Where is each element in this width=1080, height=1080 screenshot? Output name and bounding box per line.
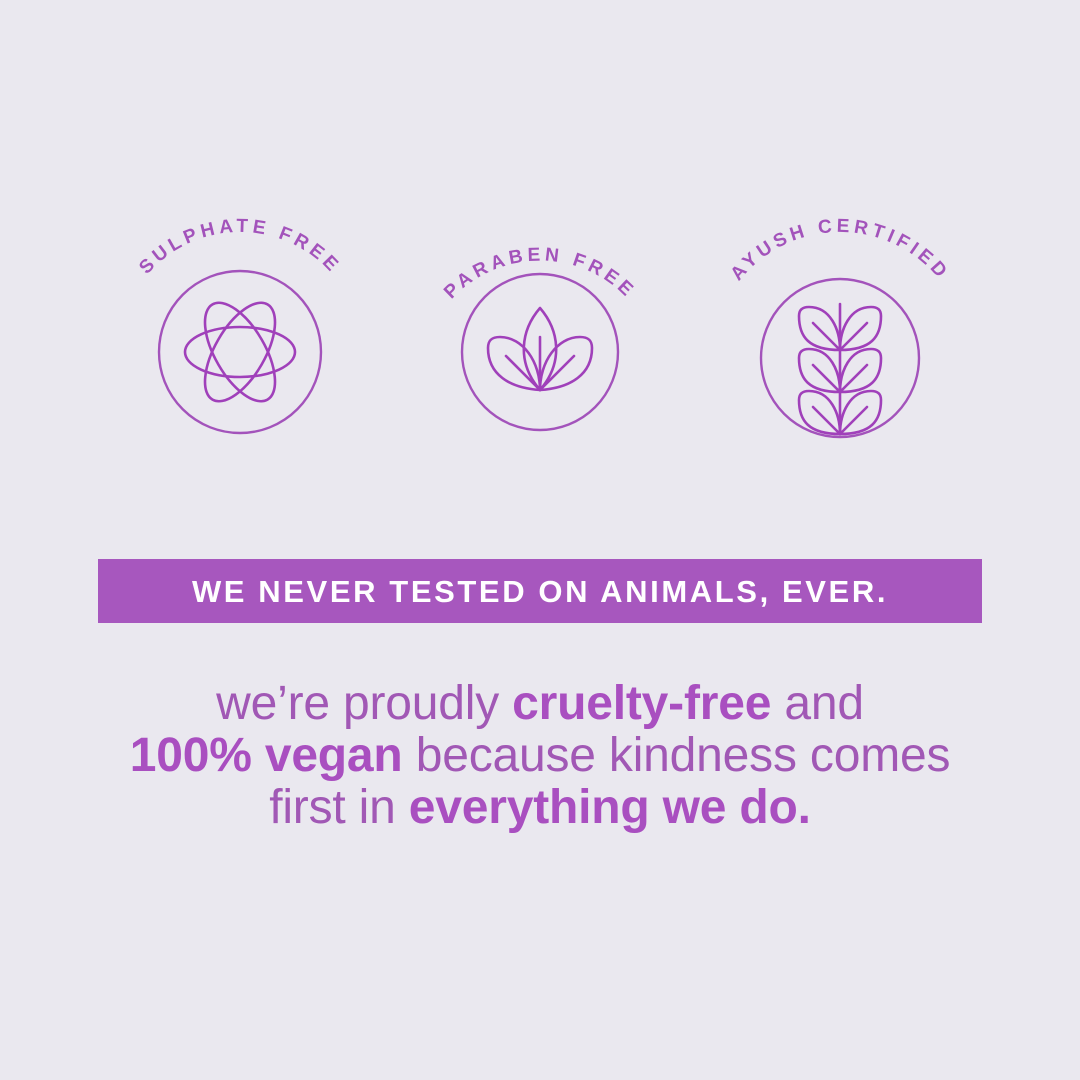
tagline-line1-regular-a: we’re proudly (216, 677, 512, 730)
tagline-block: we’re proudly cruelty-free and 100% vega… (0, 678, 1080, 834)
badge-paraben-free: PARABEN FREE (390, 196, 690, 476)
tagline-line-3: first in everything we do. (0, 782, 1080, 834)
cruelty-free-banner: WE NEVER TESTED ON ANIMALS, EVER. (98, 559, 982, 623)
tagline-line1-regular-b: and (771, 677, 864, 730)
tagline-emphasis-vegan: 100% vegan (130, 729, 403, 782)
promo-page: SULPHATE FREE PARABEN FREE (0, 0, 1080, 1080)
tagline-emphasis-everything: everything we do. (409, 781, 811, 834)
tagline-line-2: 100% vegan because kindness comes (0, 730, 1080, 782)
certification-badge-row: SULPHATE FREE PARABEN FREE (0, 196, 1080, 476)
lotus-flower-icon: PARABEN FREE (390, 196, 690, 456)
badge-ayush-certified: AYUSH CERTIFIED (690, 196, 990, 476)
banner-text: WE NEVER TESTED ON ANIMALS, EVER. (192, 576, 888, 607)
tagline-line2-regular: because kindness comes (403, 729, 951, 782)
herb-sprig-icon: AYUSH CERTIFIED (690, 196, 990, 456)
badge-sulphate-free: SULPHATE FREE (90, 196, 390, 476)
tagline-line-1: we’re proudly cruelty-free and (0, 678, 1080, 730)
badge-label-sulphate-free: SULPHATE FREE (135, 216, 344, 279)
badge-label-ayush-certified: AYUSH CERTIFIED (727, 216, 954, 285)
atom-molecule-icon: SULPHATE FREE (90, 196, 390, 456)
tagline-line3-regular: first in (269, 781, 409, 834)
tagline-emphasis-cruelty-free: cruelty-free (512, 677, 771, 730)
